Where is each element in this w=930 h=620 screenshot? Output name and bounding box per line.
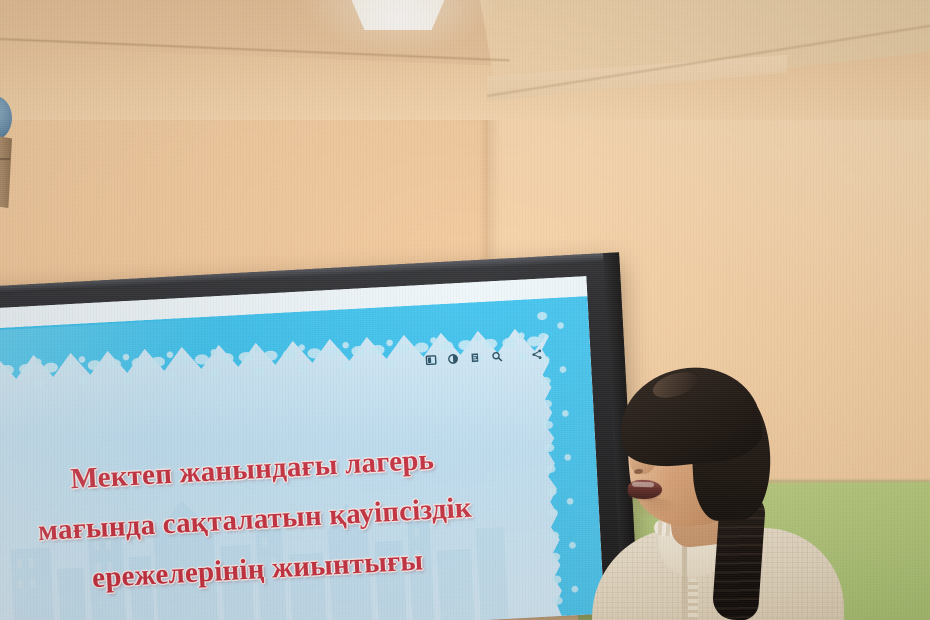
interactive-whiteboard[interactable]: Мектеп жанындағы лагерь мағында сақталат…	[0, 252, 639, 620]
presentation-slide: Мектеп жанындағы лагерь мағында сақталат…	[0, 276, 605, 620]
teeth	[632, 482, 654, 488]
sensor-disc	[0, 96, 12, 140]
share-icon[interactable]	[531, 349, 543, 361]
sensor-seam	[0, 158, 10, 160]
slide-title: Мектеп жанындағы лагерь мағында сақталат…	[0, 429, 539, 609]
presenter	[596, 372, 856, 620]
sensor-body	[0, 134, 12, 208]
contrast-icon[interactable]	[447, 353, 459, 365]
chin-shadow	[630, 498, 678, 520]
text-icon[interactable]	[469, 352, 481, 364]
board-screen[interactable]: Мектеп жанындағы лагерь мағында сақталат…	[0, 276, 605, 620]
photo-scene: Мектеп жанындағы лагерь мағында сақталат…	[0, 0, 930, 620]
blouse-placket	[682, 542, 687, 620]
presentation-icon[interactable]	[425, 354, 437, 366]
necklace	[688, 578, 698, 620]
search-icon[interactable]	[491, 351, 503, 363]
wall-mounted-sensor-icon	[0, 96, 24, 208]
